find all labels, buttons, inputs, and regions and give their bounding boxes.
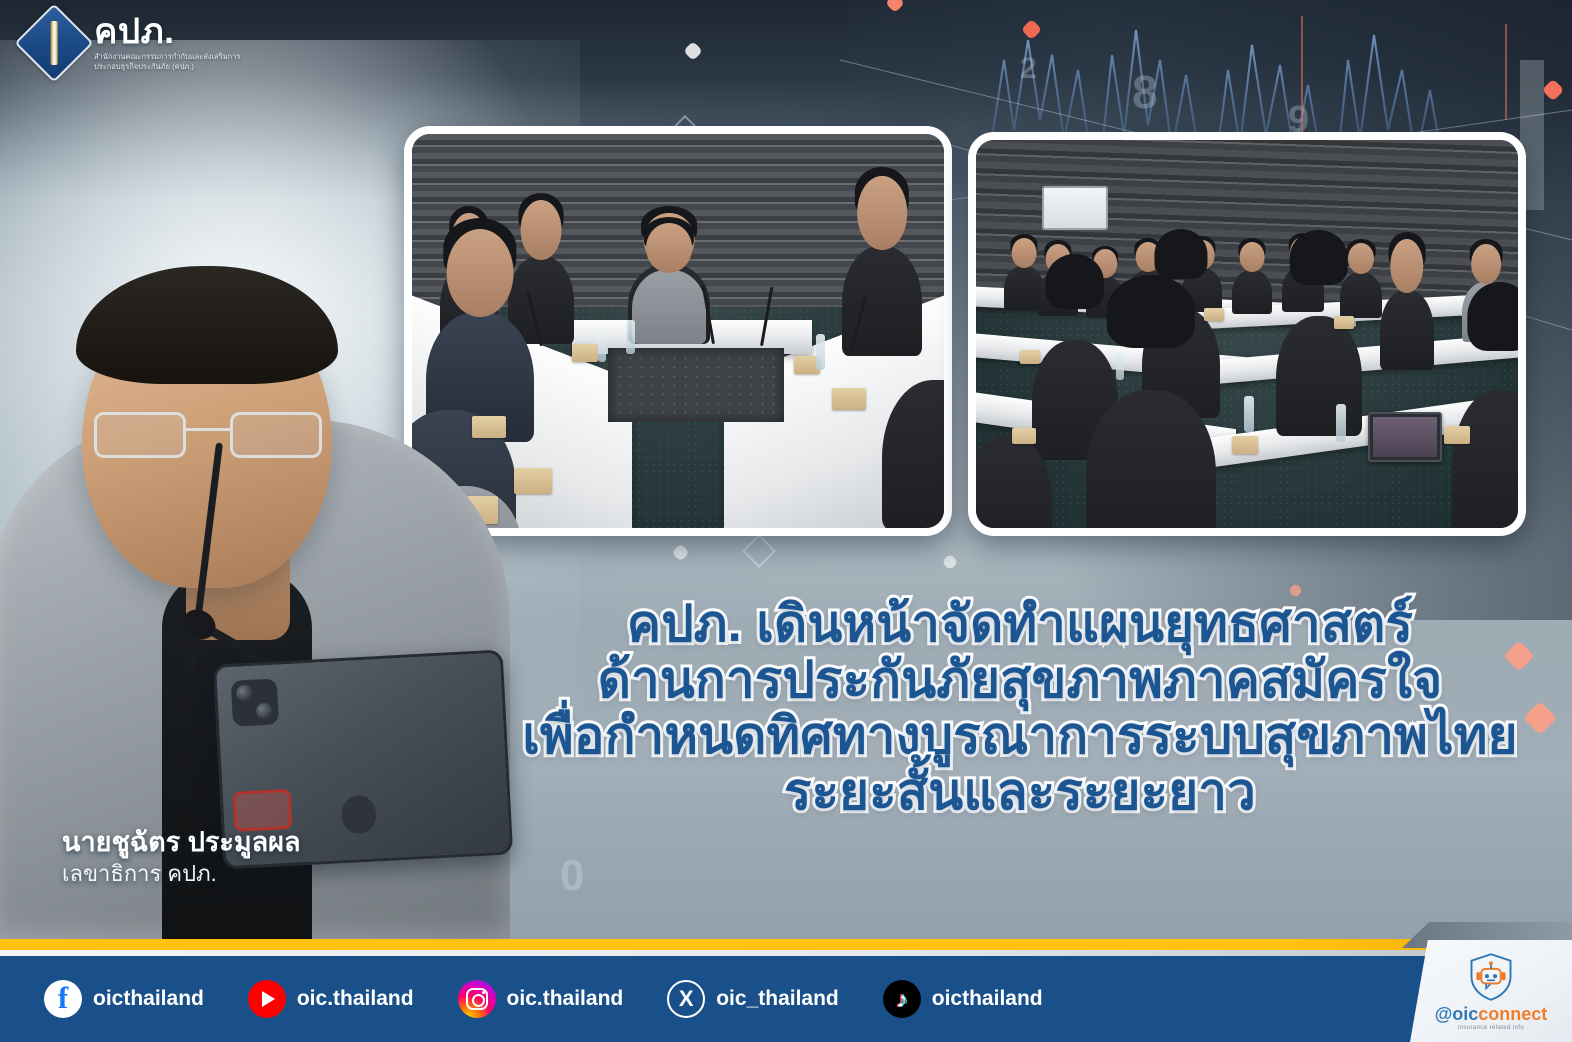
logo-subtitle: สำนักงานคณะกรรมการกำกับและส่งเสริมการประ…: [94, 52, 264, 72]
oicconnect-wordmark: @oicconnect: [1435, 1005, 1548, 1023]
headline-block: คปภ. เดินหน้าจัดทำแผนยุทธศาสตร์ ด้านการป…: [520, 596, 1520, 820]
instagram-handle: oic.thailand: [507, 987, 624, 1011]
svg-text:8: 8: [1132, 66, 1158, 118]
social-link-facebook[interactable]: f oicthailand: [44, 980, 204, 1018]
photo-person: [1380, 290, 1434, 370]
photo-water-bottle: [626, 320, 635, 354]
photo-laptop: [1368, 412, 1442, 462]
meeting-photo-classroom: [968, 132, 1526, 536]
tiktok-handle: oicthailand: [932, 987, 1043, 1011]
logo-title: คปภ.: [94, 14, 264, 49]
photo-water-bottle: [1336, 404, 1346, 442]
speaker-hair: [76, 266, 338, 384]
x-glyph: X: [679, 988, 694, 1010]
photo-scene-classroom: [976, 140, 1518, 528]
photo-person-head: [857, 176, 907, 251]
headline-line-4: ระยะสั้นและระยะยาว: [520, 764, 1520, 820]
speaker-name: นายชูฉัตร ประมูลผล: [62, 826, 301, 860]
photo-person: [1232, 270, 1272, 314]
photo-kraft-box: [1020, 350, 1040, 364]
oic-logo: คปภ. สำนักงานคณะกรรมการกำกับและส่งเสริมก…: [26, 14, 264, 72]
speaker-name-caption: นายชูฉัตร ประมูลผล เลขาธิการ คปภ.: [62, 826, 301, 887]
footer-gold-stripe: [0, 939, 1572, 950]
photo-person-hair: [1290, 230, 1348, 285]
chatbot-shield-svg: [1465, 951, 1517, 1003]
youtube-icon[interactable]: [248, 980, 286, 1018]
social-links: f oicthailand oic.thailand oic.thailand …: [0, 980, 1087, 1018]
social-link-x[interactable]: X oic_thailand: [667, 980, 839, 1018]
photo-wall-display: [1042, 186, 1108, 230]
x-handle: oic_thailand: [716, 987, 839, 1011]
photo-person: [1340, 272, 1382, 318]
facebook-icon[interactable]: f: [44, 980, 82, 1018]
instagram-icon[interactable]: [458, 980, 496, 1018]
photo-water-bottle: [816, 334, 825, 370]
tiktok-note-glyph: ♪: [896, 988, 908, 1011]
oicconnect-oic: oic: [1452, 1004, 1478, 1024]
instagram-camera-glyph: [466, 988, 488, 1010]
tablet-camera-icon: [231, 678, 279, 726]
social-link-youtube[interactable]: oic.thailand: [248, 980, 414, 1018]
footer-bar: f oicthailand oic.thailand oic.thailand …: [0, 956, 1572, 1042]
photo-person-hair: [1046, 254, 1104, 309]
svg-text:0: 0: [560, 851, 584, 900]
photo-kraft-box: [572, 344, 598, 362]
facebook-glyph: f: [58, 982, 68, 1013]
social-link-tiktok[interactable]: ♪ oicthailand: [883, 980, 1043, 1018]
youtube-play-glyph: [262, 991, 275, 1007]
photo-person-hair: [1107, 275, 1195, 349]
photo-person: [1276, 316, 1362, 436]
speaker-role: เลขาธิการ คปภ.: [62, 860, 301, 888]
eyeglass-bridge: [186, 428, 230, 431]
photo-person-head: [1012, 238, 1037, 268]
photo-kraft-box: [1444, 426, 1470, 444]
headline-line-2: ด้านการประกันภัยสุขภาพภาคสมัครใจ: [520, 652, 1520, 708]
oicconnect-tagline: insurance related info: [1458, 1025, 1524, 1031]
photo-water-bottle: [1244, 396, 1254, 432]
photo-person: [632, 270, 706, 344]
headline-line-1: คปภ. เดินหน้าจัดทำแผนยุทธศาสตร์: [520, 596, 1520, 652]
oic-logo-text: คปภ. สำนักงานคณะกรรมการกำกับและส่งเสริมก…: [94, 14, 264, 72]
youtube-handle: oic.thailand: [297, 987, 414, 1011]
oicconnect-connect: connect: [1478, 1004, 1547, 1024]
photo-person-head: [1348, 243, 1374, 274]
photo-kraft-box: [1232, 436, 1258, 454]
social-link-instagram[interactable]: oic.thailand: [458, 980, 624, 1018]
photo-water-bottle: [598, 334, 606, 362]
svg-text:2: 2: [1020, 52, 1037, 85]
tablet-logo-icon: [341, 794, 377, 834]
headline-line-3: เพื่อกำหนดทิศทางบูรณาการระบบสุขภาพไทย: [520, 708, 1520, 764]
x-twitter-icon[interactable]: X: [667, 980, 705, 1018]
photo-person-hair: [1467, 282, 1518, 351]
photo-person-hair: [1154, 229, 1207, 280]
facebook-handle: oicthailand: [93, 987, 204, 1011]
photo-person-head: [646, 223, 692, 273]
photo-kraft-box: [1334, 316, 1354, 329]
photo-kraft-box: [832, 388, 866, 410]
oicconnect-badge[interactable]: @oicconnect insurance related info: [1410, 940, 1572, 1042]
eyeglass-lens-left: [94, 412, 186, 458]
speaker-portrait: [0, 150, 550, 940]
eyeglass-lens-right: [230, 412, 322, 458]
photo-kraft-box: [1204, 308, 1224, 321]
speaker-eyeglasses: [94, 412, 322, 458]
photo-person-head: [1240, 242, 1265, 272]
table-center-panel: [608, 348, 784, 422]
photo-kraft-box: [1012, 428, 1036, 444]
tiktok-icon[interactable]: ♪: [883, 980, 921, 1018]
oic-diamond-logo-icon: [14, 4, 93, 83]
at-symbol: @: [1435, 1004, 1453, 1024]
photo-person-head: [1471, 244, 1501, 285]
chatbot-shield-icon: [1465, 951, 1517, 1003]
photo-water-bottle: [1116, 352, 1124, 380]
poster-root: 8 9 2 0 1 0 0 0 0 0: [0, 0, 1572, 1042]
